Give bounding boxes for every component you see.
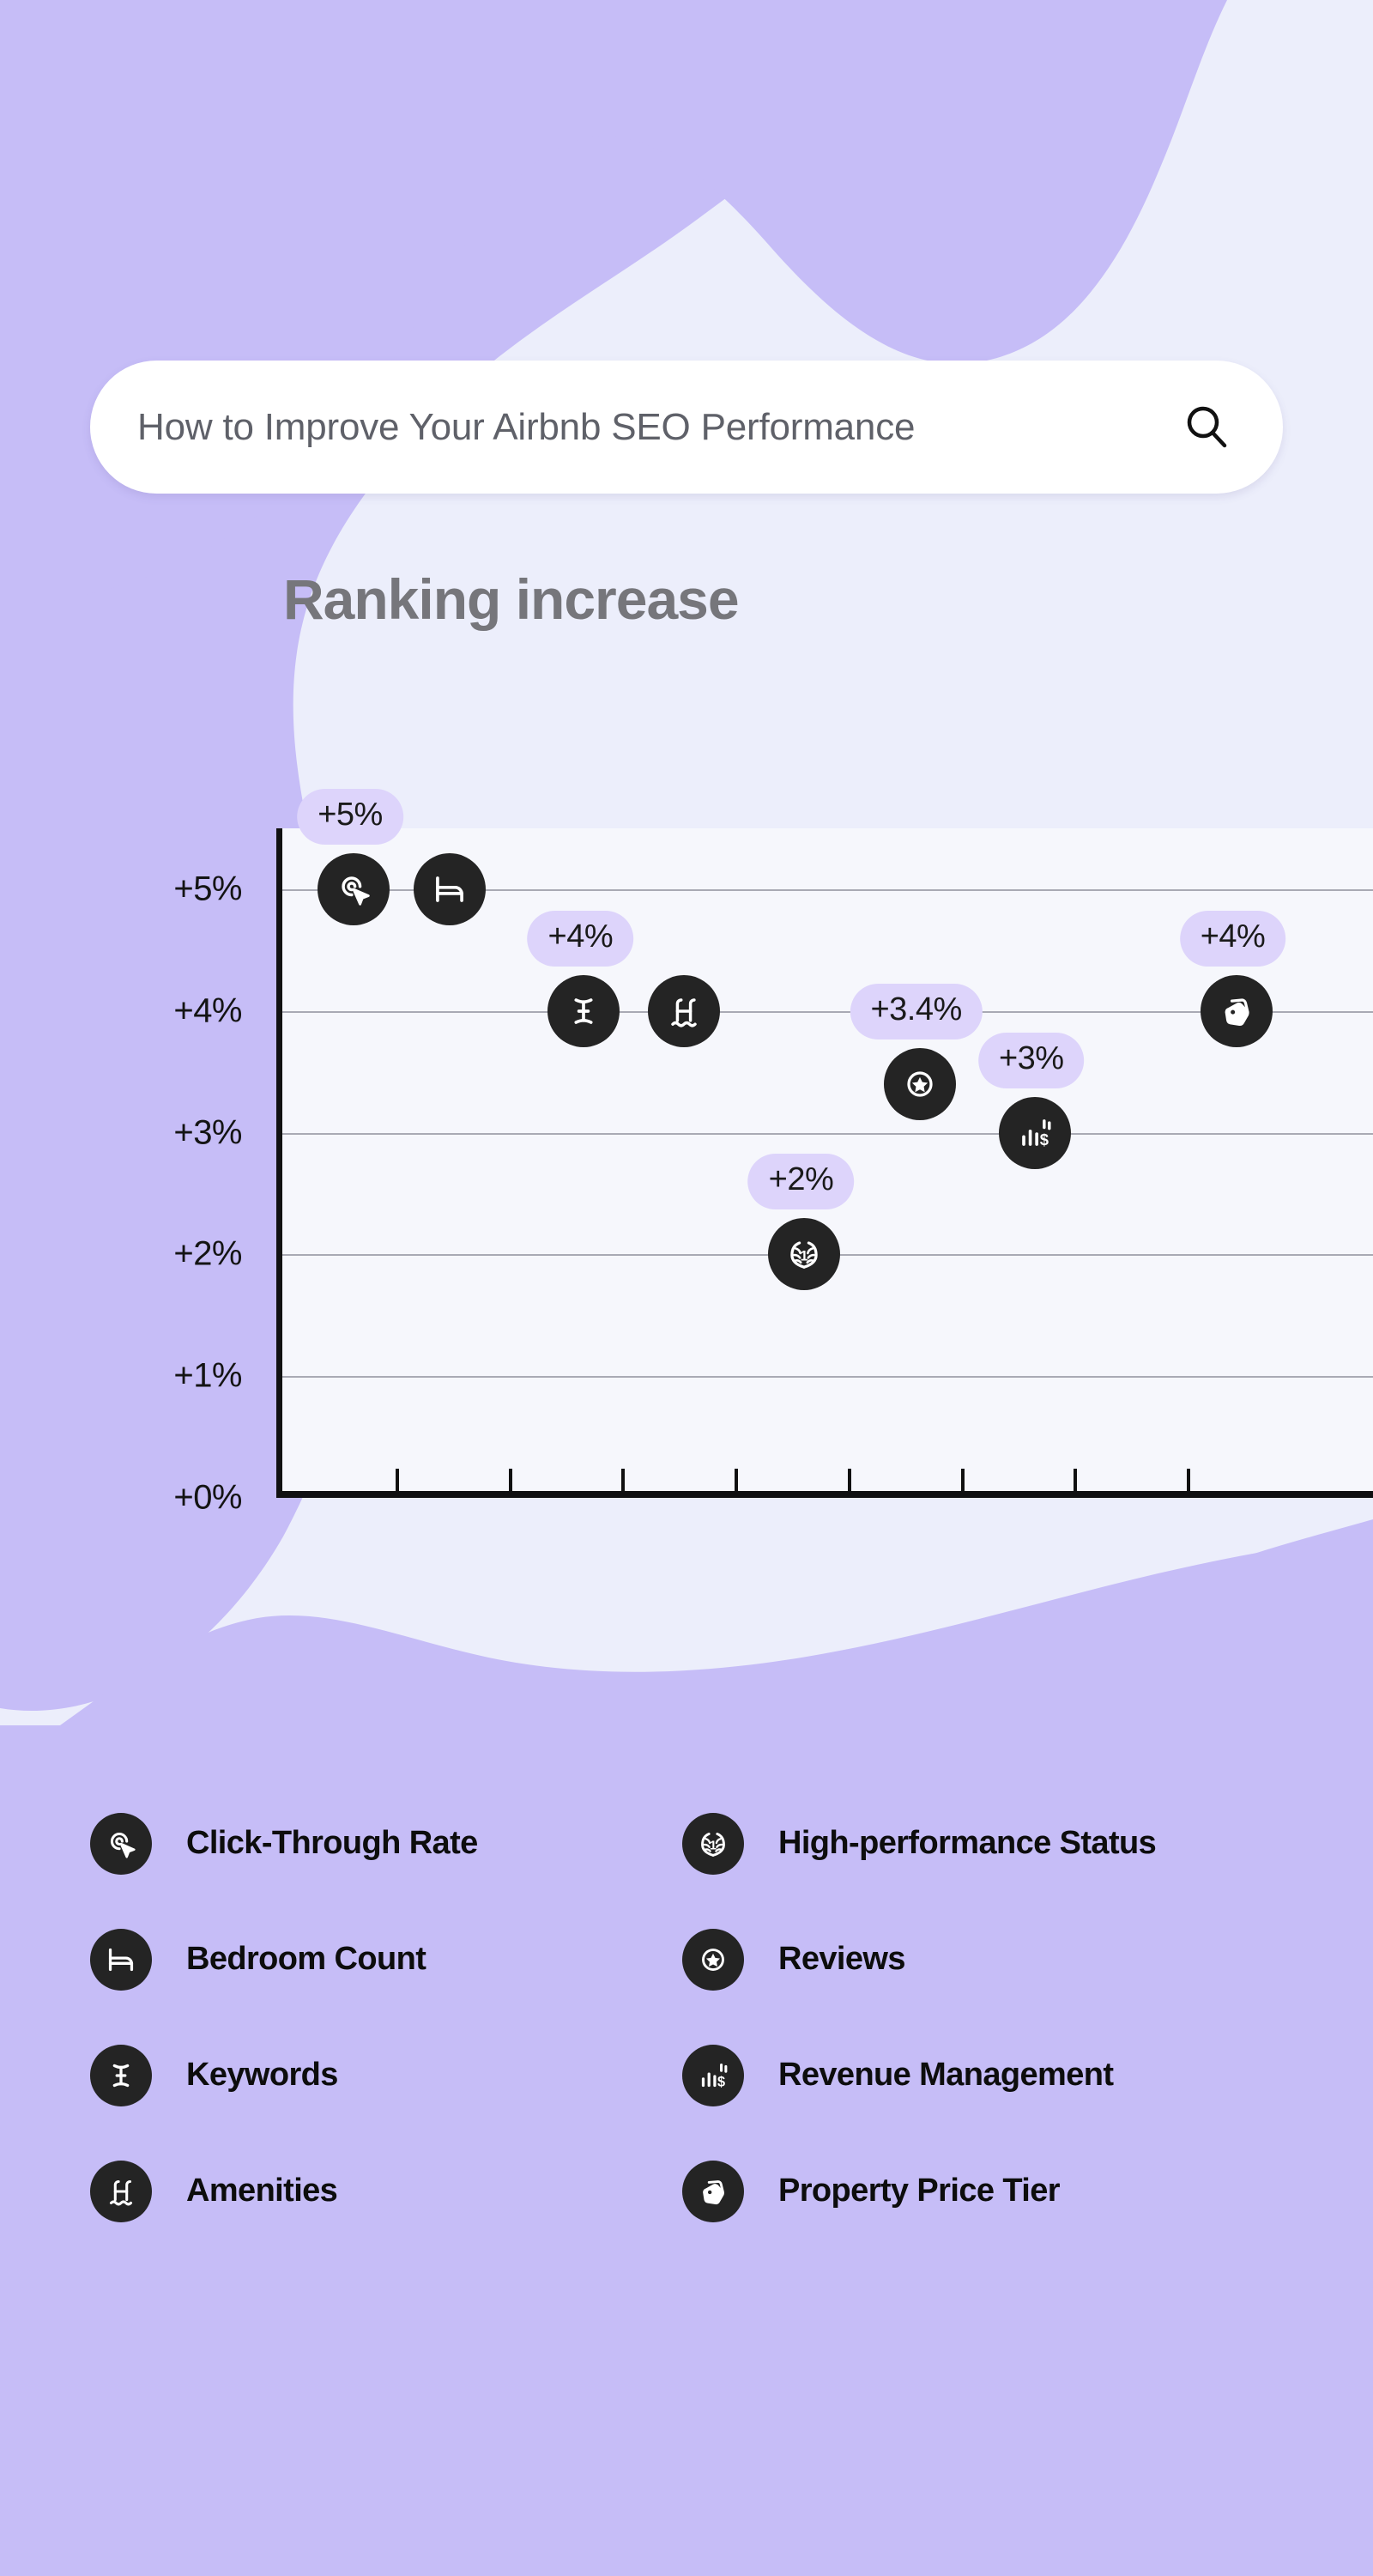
y-axis-tick-label: +2% bbox=[173, 1235, 242, 1274]
data-point-value-pill: +2% bbox=[748, 1154, 855, 1209]
legend-item[interactable]: $ Revenue Management bbox=[682, 2017, 1231, 2133]
data-point-high-performance-status-icon[interactable]: 1 bbox=[768, 1218, 840, 1290]
y-axis-tick-label: +4% bbox=[173, 991, 242, 1030]
y-axis-tick-label: +0% bbox=[173, 1479, 242, 1518]
legend-item-label: Keywords bbox=[186, 2057, 338, 2094]
x-axis-tick bbox=[735, 1469, 738, 1491]
search-icon bbox=[1182, 402, 1233, 453]
data-point-value-pill: +3% bbox=[978, 1033, 1085, 1088]
high-performance-status-icon: 1 bbox=[693, 1824, 733, 1864]
svg-text:$: $ bbox=[1039, 1130, 1048, 1149]
legend-item[interactable]: Click-Through Rate bbox=[90, 1785, 639, 1901]
data-point-value-pill: +4% bbox=[528, 911, 634, 967]
svg-text:1: 1 bbox=[801, 1249, 808, 1264]
legend-icon-wrapper bbox=[90, 1929, 152, 1991]
keywords-icon bbox=[101, 2056, 141, 2095]
legend-item-label: Property Price Tier bbox=[778, 2173, 1060, 2209]
legend-item-label: Reviews bbox=[778, 1941, 905, 1978]
legend-item-label: Revenue Management bbox=[778, 2057, 1113, 2094]
chart-title: Ranking increase bbox=[283, 567, 739, 632]
chart-legend: Click-Through Rate 1 High-performance St… bbox=[90, 1785, 1309, 2249]
y-axis-tick-label: +5% bbox=[173, 870, 242, 908]
x-axis-tick bbox=[396, 1469, 399, 1491]
data-point-bedroom-count-icon[interactable] bbox=[414, 853, 486, 925]
high-performance-status-icon: 1 bbox=[782, 1232, 826, 1276]
bedroom-count-icon bbox=[101, 1940, 141, 1979]
legend-item-label: High-performance Status bbox=[778, 1825, 1156, 1862]
infographic-canvas: How to Improve Your Airbnb SEO Performan… bbox=[0, 0, 1373, 2576]
search-input[interactable]: How to Improve Your Airbnb SEO Performan… bbox=[137, 406, 1176, 449]
legend-icon-wrapper bbox=[682, 2161, 744, 2222]
ranking-increase-chart: +5%+4%+3%+2%+1%+0% +5% +4% +3.4% +3% bbox=[0, 773, 1373, 1588]
data-point-property-price-tier-icon[interactable] bbox=[1201, 975, 1273, 1047]
search-bar[interactable]: How to Improve Your Airbnb SEO Performan… bbox=[90, 361, 1283, 494]
click-through-rate-icon bbox=[331, 867, 376, 912]
legend-item[interactable]: Bedroom Count bbox=[90, 1901, 639, 2017]
x-axis-tick bbox=[961, 1469, 965, 1491]
revenue-management-icon: $ bbox=[1013, 1111, 1057, 1155]
data-point-value-pill: +4% bbox=[1180, 911, 1286, 967]
legend-item-label: Amenities bbox=[186, 2173, 337, 2209]
search-button[interactable] bbox=[1176, 397, 1238, 458]
property-price-tier-icon bbox=[693, 2172, 733, 2211]
legend-item[interactable]: Property Price Tier bbox=[682, 2133, 1231, 2249]
legend-icon-wrapper: $ bbox=[682, 2045, 744, 2106]
data-point-revenue-management-icon[interactable]: $ bbox=[999, 1097, 1071, 1169]
x-axis-tick bbox=[1187, 1469, 1190, 1491]
x-axis-tick bbox=[1074, 1469, 1077, 1491]
legend-item-label: Click-Through Rate bbox=[186, 1825, 478, 1862]
svg-text:1: 1 bbox=[710, 1839, 717, 1852]
legend-icon-wrapper bbox=[90, 2045, 152, 2106]
data-point-amenities-icon[interactable] bbox=[648, 975, 720, 1047]
gridline bbox=[282, 1376, 1373, 1378]
data-point-reviews-icon[interactable] bbox=[884, 1048, 956, 1120]
x-axis-tick bbox=[848, 1469, 851, 1491]
reviews-icon bbox=[693, 1940, 733, 1979]
data-point-keywords-icon[interactable] bbox=[547, 975, 620, 1047]
data-point-value-pill: +3.4% bbox=[850, 984, 982, 1039]
legend-icon-wrapper bbox=[90, 2161, 152, 2222]
property-price-tier-icon bbox=[1214, 989, 1259, 1033]
gridline bbox=[282, 1133, 1373, 1135]
legend-item[interactable]: 1 High-performance Status bbox=[682, 1785, 1231, 1901]
legend-icon-wrapper bbox=[90, 1813, 152, 1875]
legend-icon-wrapper: 1 bbox=[682, 1813, 744, 1875]
x-axis-tick bbox=[621, 1469, 625, 1491]
legend-item[interactable]: Keywords bbox=[90, 2017, 639, 2133]
svg-text:$: $ bbox=[717, 2074, 725, 2089]
amenities-icon bbox=[101, 2172, 141, 2211]
reviews-icon bbox=[898, 1062, 942, 1106]
legend-item[interactable]: Reviews bbox=[682, 1901, 1231, 2017]
legend-icon-wrapper bbox=[682, 1929, 744, 1991]
data-point-click-through-rate-icon[interactable] bbox=[318, 853, 390, 925]
amenities-icon bbox=[662, 989, 706, 1033]
y-axis-tick-label: +3% bbox=[173, 1113, 242, 1152]
x-axis-tick bbox=[509, 1469, 512, 1491]
data-point-value-pill: +5% bbox=[297, 789, 403, 845]
legend-item-label: Bedroom Count bbox=[186, 1941, 426, 1978]
legend-item[interactable]: Amenities bbox=[90, 2133, 639, 2249]
revenue-management-icon: $ bbox=[693, 2056, 733, 2095]
y-axis-tick-label: +1% bbox=[173, 1357, 242, 1396]
keywords-icon bbox=[561, 989, 606, 1033]
click-through-rate-icon bbox=[101, 1824, 141, 1864]
bedroom-count-icon bbox=[427, 867, 472, 912]
